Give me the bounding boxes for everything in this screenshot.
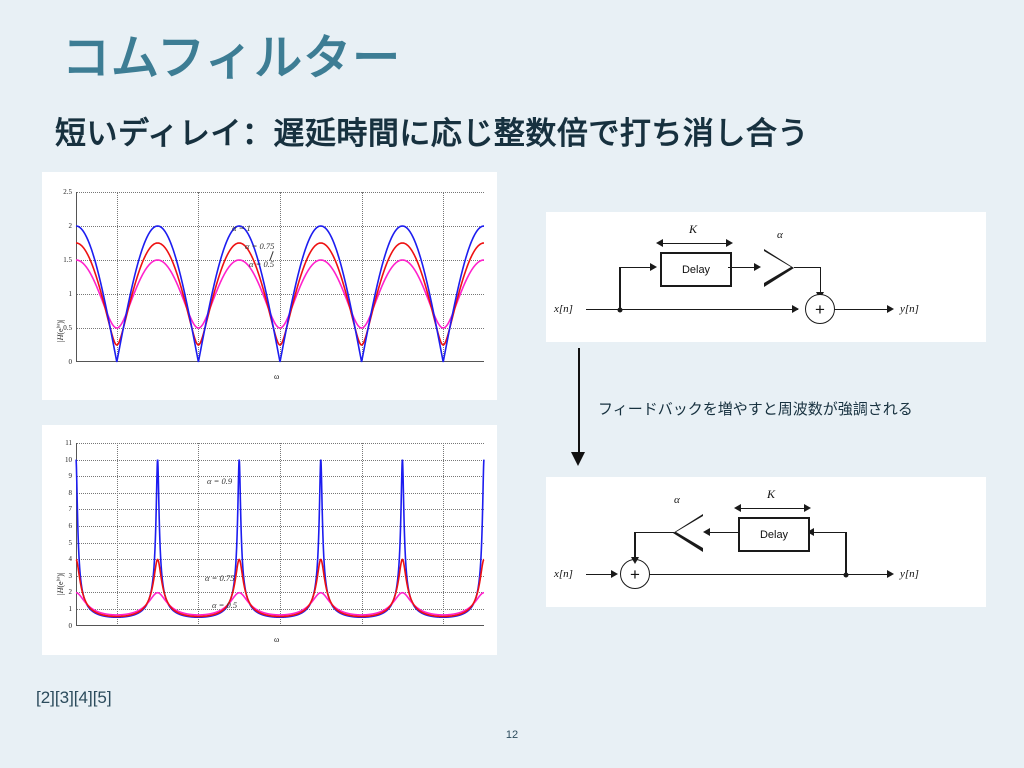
- chart2-plot-area: [76, 443, 484, 626]
- diagram2-input-label: x[n]: [554, 568, 573, 580]
- diagram1-input-label: x[n]: [554, 303, 573, 315]
- chart1-ytick: 1.5: [46, 256, 72, 264]
- chart1-x-axis-label: ω: [274, 372, 279, 381]
- diagram-card-feedforward: x[n] Delay K α + y[n]: [546, 212, 986, 342]
- diagram-card-feedback: x[n] + y[n] Delay K α: [546, 477, 986, 607]
- chart2-ytick: 6: [46, 522, 72, 530]
- diagram1-delay-block[interactable]: Delay: [660, 252, 732, 287]
- diagram2-gain-label: α: [674, 494, 680, 506]
- chart1-ytick: 0.5: [46, 324, 72, 332]
- page-subtitle: 短いディレイ：遅延時間に応じ整数倍で打ち消し合う: [55, 108, 809, 153]
- diagram1-delay-input-arrow: [650, 263, 657, 271]
- diagram1-gain-triangle: [764, 249, 794, 287]
- chart-card-feedback: |H(ejω)| 11 10 9 8 7 6 5 4 3 2 1 0: [42, 425, 497, 655]
- chart2-ytick: 7: [46, 505, 72, 513]
- chart1-ytick: 1: [46, 290, 72, 298]
- diagram-feedforward: x[n] Delay K α + y[n]: [546, 212, 986, 342]
- page-number: 12: [0, 729, 1024, 741]
- diagram1-summing-junction: +: [805, 294, 835, 324]
- chart2-ytick: 4: [46, 555, 72, 563]
- chart2-ytick: 2: [46, 588, 72, 596]
- chart2-ytick: 10: [46, 456, 72, 464]
- diagram2-delay-amount-label: K: [767, 487, 775, 502]
- diagram1-delay-amount-label: K: [689, 222, 697, 237]
- diagram2-delay-block[interactable]: Delay: [738, 517, 810, 552]
- diagram2-sum-input-arrow: [611, 570, 618, 578]
- chart-card-feedforward: |H(ejω)| 2.5 2 1.5 1 0.5 0: [42, 172, 497, 400]
- diagram1-output-label: y[n]: [900, 303, 919, 315]
- flow-arrow-head-icon: [571, 452, 585, 466]
- chart1-annotation-alpha075: α = 0.75: [245, 241, 274, 251]
- chart2-ytick: 5: [46, 539, 72, 547]
- diagram1-k-arrow-right: [726, 239, 733, 247]
- chart2-ytick: 11: [46, 439, 72, 447]
- annotation-text: フィードバックを増やすと周波数が強調される: [598, 398, 913, 419]
- chart2-curves: [76, 443, 484, 626]
- diagram-feedback: x[n] + y[n] Delay K α: [546, 477, 986, 607]
- diagram2-output-label: y[n]: [900, 568, 919, 580]
- diagram1-gain-label: α: [777, 229, 783, 241]
- chart1-plot-area: [76, 192, 484, 362]
- slide-root: コムフィルター 短いディレイ：遅延時間に応じ整数倍で打ち消し合う |H(ejω)…: [0, 0, 1024, 768]
- diagram1-output-arrow: [887, 305, 894, 313]
- chart1-ytick: 2.5: [46, 188, 72, 196]
- diagram1-sum-input-arrow: [792, 305, 799, 313]
- chart1-annotation-alpha1: α = 1: [232, 223, 251, 233]
- chart1-ytick: 0: [46, 358, 72, 366]
- diagram1-gain-input-arrow: [754, 263, 761, 271]
- chart2-ytick: 1: [46, 605, 72, 613]
- diagram2-k-arrow-left: [734, 504, 741, 512]
- diagram2-gain-triangle: [673, 514, 703, 552]
- chart2-ytick: 9: [46, 472, 72, 480]
- chart2-ytick: 8: [46, 489, 72, 497]
- chart2-ytick: 0: [46, 622, 72, 630]
- chart1-curves: [76, 192, 484, 362]
- diagram2-k-arrow-right: [804, 504, 811, 512]
- chart2-annotation-alpha09: α = 0.9: [207, 476, 232, 486]
- chart2-x-axis-label: ω: [274, 635, 279, 644]
- diagram2-sum-top-arrow: [631, 557, 639, 564]
- chart2-annotation-alpha05: α = 0.5: [212, 600, 237, 610]
- diagram1-k-arrow-left: [656, 239, 663, 247]
- chart-feedback: |H(ejω)| 11 10 9 8 7 6 5 4 3 2 1 0: [42, 425, 497, 655]
- flow-arrow-shaft: [578, 348, 580, 456]
- chart2-ytick: 3: [46, 572, 72, 580]
- page-title: コムフィルター: [62, 33, 401, 86]
- diagram2-output-arrow: [887, 570, 894, 578]
- references-text: [2][3][4][5]: [36, 688, 112, 708]
- chart-feedforward: |H(ejω)| 2.5 2 1.5 1 0.5 0: [42, 172, 497, 400]
- diagram2-gain-input-arrow: [703, 528, 710, 536]
- chart2-annotation-alpha075: α = 0.75: [205, 573, 234, 583]
- chart1-ytick: 2: [46, 222, 72, 230]
